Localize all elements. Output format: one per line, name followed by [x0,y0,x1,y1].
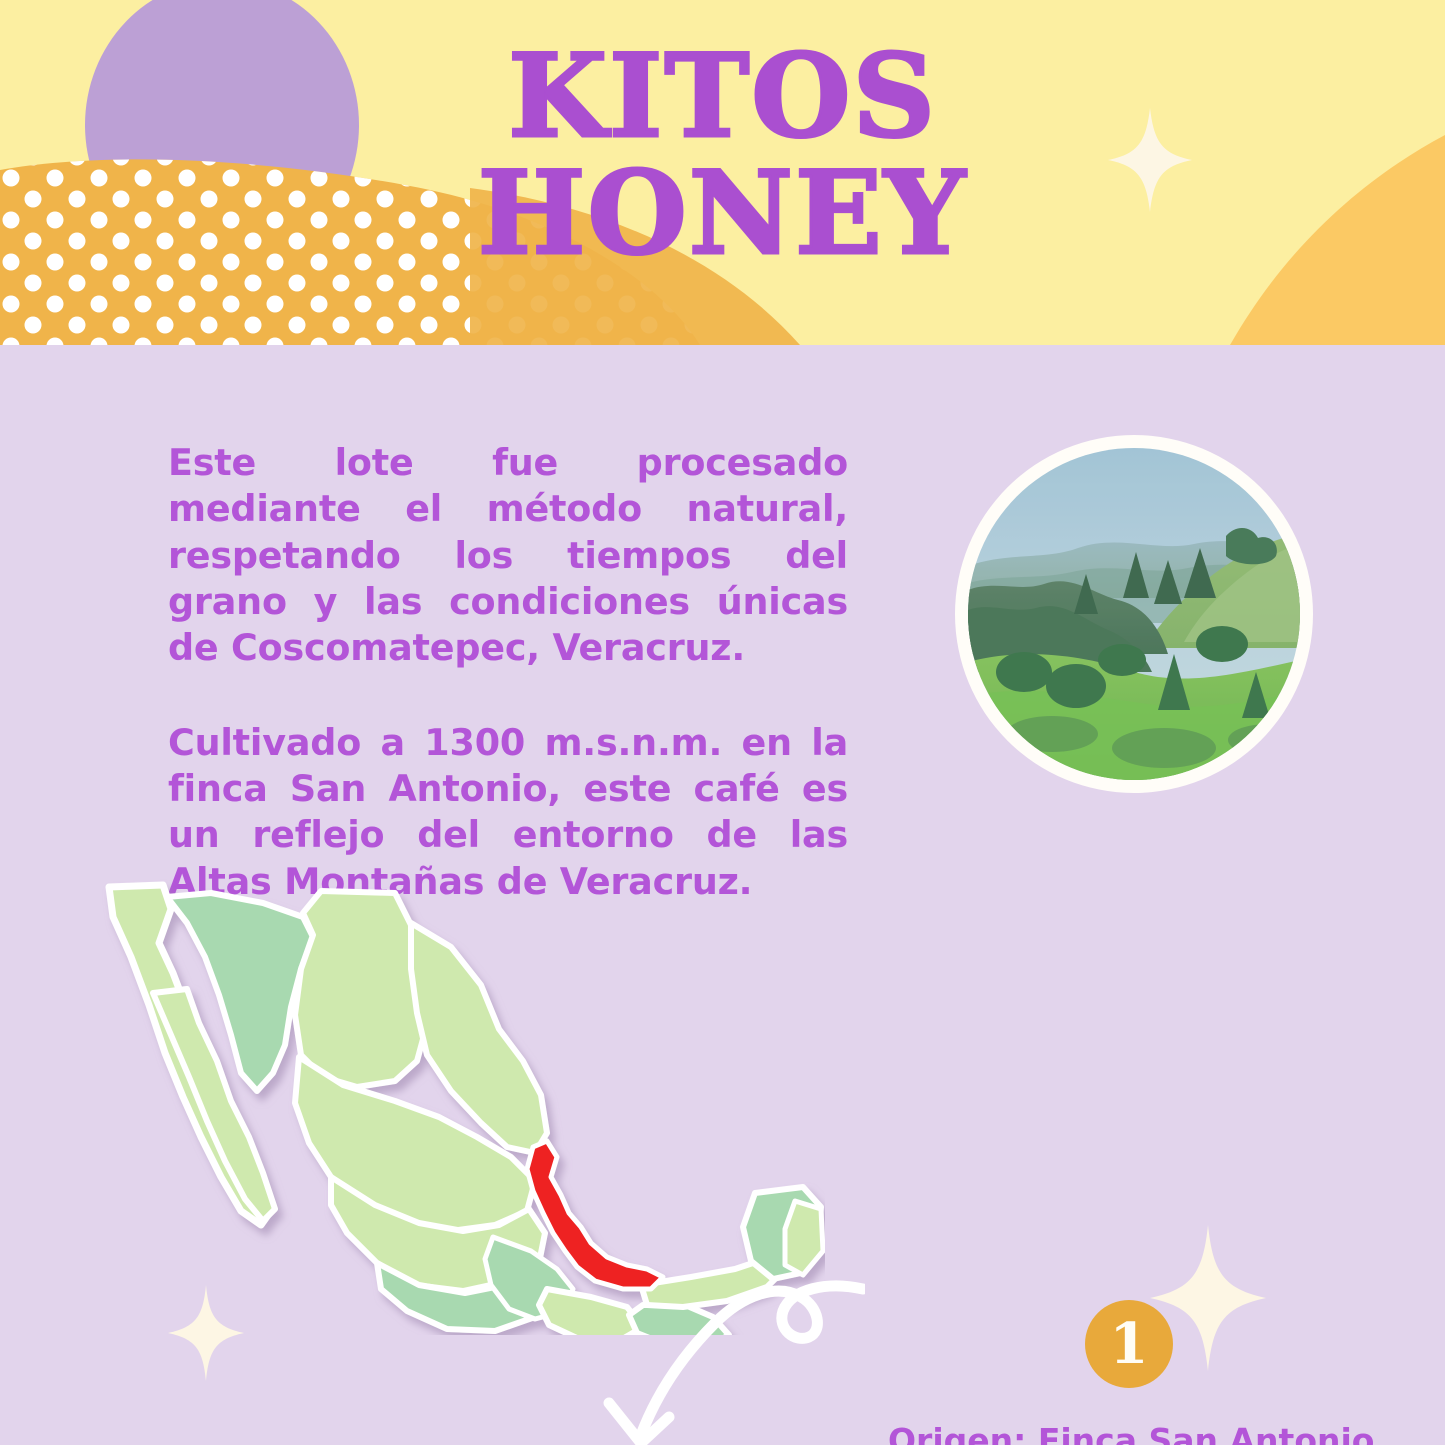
curved-arrow-icon [565,1275,865,1445]
sparkle-icon-top-right [1108,108,1192,212]
header-decor-shapes [0,0,1445,345]
poster-canvas: KITOS HONEY Este lote fue procesado medi… [0,0,1445,1445]
state-chihuahua [295,891,429,1087]
farm-photo [968,448,1300,780]
mountain-landscape-illustration [968,448,1300,780]
body-content: Este lote fue procesado mediante el méto… [0,345,1445,1445]
map-body [109,885,823,1335]
description-block: Este lote fue procesado mediante el méto… [168,440,848,905]
farm-photo-frame [955,435,1313,793]
step-badge-number: 1 [1110,1316,1149,1372]
state-quintana-roo [785,1201,823,1275]
origin-label: Origen: Finca San Antonio, Veracruz, Méx… [888,1420,1408,1445]
header-banner: KITOS HONEY [0,0,1445,345]
sparkle-icon-bottom-left [168,1285,244,1381]
mexico-map-svg [95,865,825,1335]
mexico-map [95,865,825,1335]
paragraph-process: Este lote fue procesado mediante el méto… [168,440,848,672]
sparkle-icon-bottom-right [1150,1225,1266,1371]
